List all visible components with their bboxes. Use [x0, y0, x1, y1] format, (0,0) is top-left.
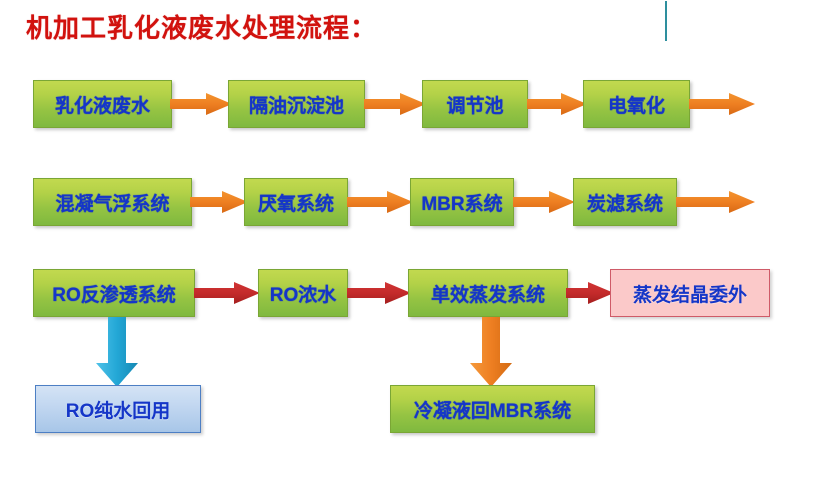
node-label: RO纯水回用 — [66, 396, 171, 423]
node-label: 单效蒸发系统 — [431, 280, 545, 307]
arrow-row2-2 — [347, 191, 413, 213]
arrow-row1-2 — [364, 93, 426, 115]
node-mbr-system[interactable]: MBR系统 — [410, 178, 514, 226]
arrow-row3-3 — [566, 282, 614, 304]
node-electro-oxidation[interactable]: 电氧化 — [583, 80, 690, 128]
node-label: RO反渗透系统 — [52, 280, 176, 307]
node-label: 隔油沉淀池 — [249, 91, 344, 118]
accent-line-decoration — [665, 1, 667, 41]
node-single-effect-evaporation-system[interactable]: 单效蒸发系统 — [408, 269, 568, 317]
node-label: 乳化液废水 — [55, 91, 150, 118]
node-emulsion-wastewater[interactable]: 乳化液废水 — [33, 80, 172, 128]
arrow-evaporation-down-to-condensate — [470, 317, 512, 387]
node-label: MBR系统 — [421, 189, 502, 216]
flowchart-canvas: 机加工乳化液废水处理流程： 乳化液废水 隔油沉淀池 调节池 电氧化 — [0, 0, 829, 492]
node-label: 混凝气浮系统 — [55, 189, 169, 216]
node-carbon-filter-system[interactable]: 炭滤系统 — [573, 178, 677, 226]
arrow-row1-3 — [527, 93, 587, 115]
node-label: 调节池 — [446, 91, 503, 118]
arrow-row2-4-continue — [676, 191, 755, 213]
node-label: 冷凝液回MBR系统 — [414, 396, 571, 423]
node-coagulation-flotation-system[interactable]: 混凝气浮系统 — [33, 178, 192, 226]
node-condensate-to-mbr-system[interactable]: 冷凝液回MBR系统 — [390, 385, 595, 433]
node-label: 炭滤系统 — [587, 189, 663, 216]
node-label: 蒸发结晶委外 — [633, 280, 747, 307]
node-label: 厌氧系统 — [258, 189, 334, 216]
arrow-row3-2 — [347, 282, 411, 304]
node-ro-concentrate[interactable]: RO浓水 — [258, 269, 348, 317]
node-oil-separation-tank[interactable]: 隔油沉淀池 — [228, 80, 365, 128]
arrow-row3-1 — [194, 282, 260, 304]
node-regulating-tank[interactable]: 调节池 — [422, 80, 528, 128]
node-label: 电氧化 — [608, 91, 665, 118]
page-title: 机加工乳化液废水处理流程： — [26, 8, 377, 45]
node-ro-reverse-osmosis-system[interactable]: RO反渗透系统 — [33, 269, 195, 317]
node-label: RO浓水 — [270, 280, 337, 307]
arrow-row1-1 — [170, 93, 232, 115]
node-anaerobic-system[interactable]: 厌氧系统 — [244, 178, 348, 226]
arrow-row2-1 — [190, 191, 248, 213]
node-ro-pure-water-reuse[interactable]: RO纯水回用 — [35, 385, 201, 433]
node-evaporation-crystallization-outsourced[interactable]: 蒸发结晶委外 — [610, 269, 770, 317]
arrow-ro-down-to-pure-water — [96, 317, 138, 387]
arrow-row1-4-continue — [689, 93, 755, 115]
arrow-row2-3 — [513, 191, 575, 213]
